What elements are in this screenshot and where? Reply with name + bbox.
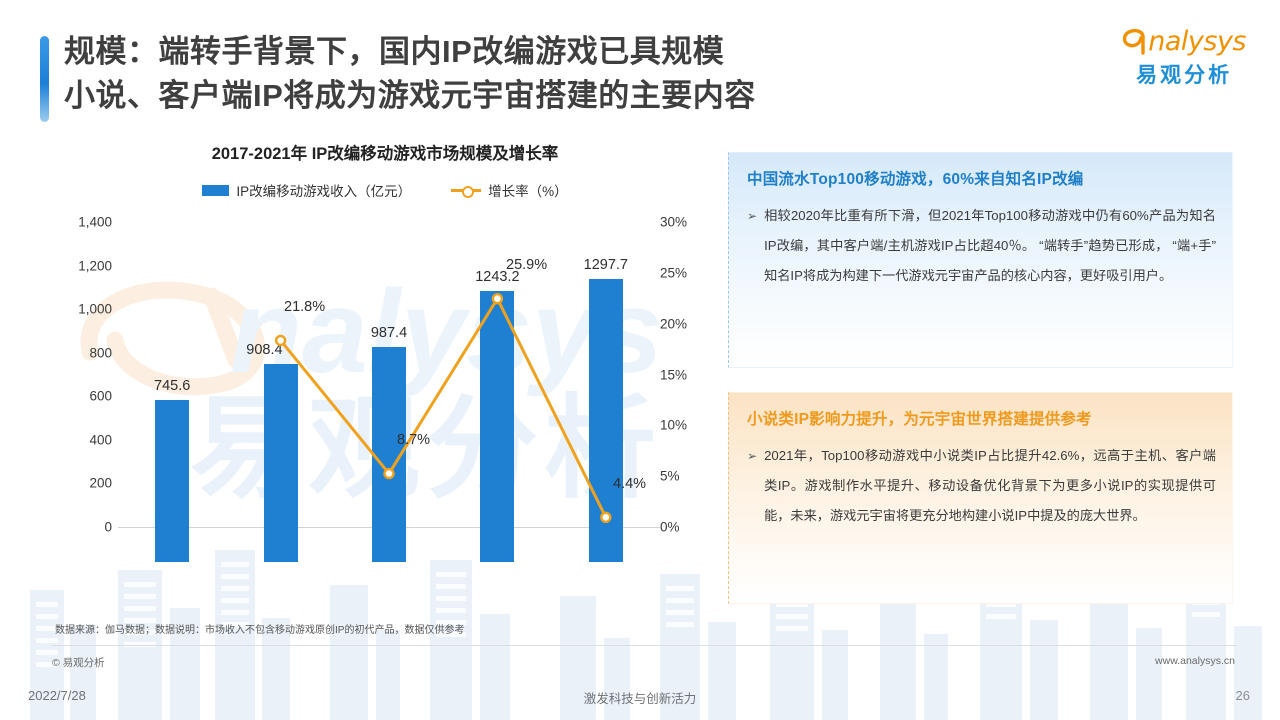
footer-slogan: 激发科技与创新活力 [0, 688, 1280, 707]
chart-container: 2017-2021年 IP改编移动游戏市场规模及增长率 IP改编移动游戏收入（亿… [60, 140, 710, 600]
insight-panel-ip-adaptation: 中国流水Top100移动游戏，60%来自知名IP改编 ➢ 相较2020年比重有所… [728, 152, 1233, 368]
y-left-tick-1000: 1,000 [78, 302, 112, 317]
line-point-2021[interactable] [601, 513, 610, 522]
analysys-logo: nalysys 易观分析 [1122, 26, 1246, 89]
y-right-tick-5: 5% [660, 469, 680, 484]
page-number: 26 [1236, 688, 1250, 703]
y-left-tick-1200: 1,200 [78, 258, 112, 273]
line-point-2020[interactable] [493, 294, 502, 303]
line-value-2019: 8.7% [397, 432, 430, 448]
line-point-2019[interactable] [385, 469, 394, 478]
data-source-footnote: 数据来源：伽马数据；数据说明：市场收入不包含移动游戏原创IP的初代产品，数据仅供… [55, 621, 464, 636]
footer-divider [52, 645, 1237, 646]
panel-heading-orange: 小说类IP影响力提升，为元宇宙世界搭建提供参考 [747, 407, 1216, 429]
line-value-2020: 25.9% [506, 257, 547, 273]
y-right-tick-0: 0% [660, 520, 680, 535]
page-title: 规模：端转手背景下，国内IP改编游戏已具规模 小说、客户端IP将成为游戏元宇宙搭… [40, 30, 1040, 118]
y-left-tick-0: 0 [104, 520, 112, 535]
y-left-tick-1400: 1,400 [78, 215, 112, 230]
panel-bullet-blue: ➢ 相较2020年比重有所下滑，但2021年Top100移动游戏中仍有60%产品… [747, 201, 1216, 291]
chart-title: 2017-2021年 IP改编移动游戏市场规模及增长率 [60, 140, 710, 164]
panel-body-blue: 相较2020年比重有所下滑，但2021年Top100移动游戏中仍有60%产品为知… [764, 201, 1216, 291]
logo-wordmark: nalysys [1148, 26, 1246, 57]
title-accent-bar [40, 36, 49, 122]
y-right-tick-20: 20% [660, 316, 687, 331]
title-line-1: 规模：端转手背景下，国内IP改编游戏已具规模 [64, 30, 1040, 74]
line-value-2018: 21.8% [284, 299, 325, 315]
y-right-tick-10: 10% [660, 418, 687, 433]
y-left-tick-800: 800 [89, 345, 112, 360]
panel-bullet-orange: ➢ 2021年，Top100移动游戏中小说类IP占比提升42.6%，远高于主机、… [747, 441, 1216, 531]
y-left-tick-600: 600 [89, 389, 112, 404]
bullet-arrow-icon: ➢ [747, 201, 757, 231]
chart-legend: IP改编移动游戏收入（亿元） 增长率（%） [60, 180, 710, 200]
legend-item-bar: IP改编移动游戏收入（亿元） [202, 180, 411, 200]
y-right-tick-15: 15% [660, 367, 687, 382]
copyright-text: © 易观分析 [52, 655, 105, 670]
line-value-2021: 4.4% [613, 476, 646, 492]
y-right-tick-25: 25% [660, 265, 687, 280]
legend-bar-swatch [202, 185, 229, 196]
growth-rate-line [118, 257, 660, 562]
insight-panel-novel-ip: 小说类IP影响力提升，为元宇宙世界搭建提供参考 ➢ 2021年，Top100移动… [728, 392, 1233, 604]
logo-swirl-icon [1122, 28, 1148, 56]
website-url: www.analysys.cn [1155, 655, 1235, 667]
y-left-tick-200: 200 [89, 476, 112, 491]
title-line-2: 小说、客户端IP将成为游戏元宇宙搭建的主要内容 [64, 74, 1040, 118]
legend-item-line: 增长率（%） [451, 180, 568, 200]
panel-body-orange: 2021年，Top100移动游戏中小说类IP占比提升42.6%，远高于主机、客户… [764, 441, 1216, 531]
bullet-arrow-icon: ➢ [747, 441, 757, 471]
y-right-tick-30: 30% [660, 215, 687, 230]
plot-area: nalysys 易观分析 1,400 1,200 1,000 800 600 4… [60, 222, 710, 562]
y-left-tick-400: 400 [89, 432, 112, 447]
logo-chinese-name: 易观分析 [1122, 59, 1246, 89]
legend-line-swatch [451, 185, 481, 196]
legend-line-label: 增长率（%） [488, 180, 568, 200]
panel-heading-blue: 中国流水Top100移动游戏，60%来自知名IP改编 [747, 167, 1216, 189]
legend-bar-label: IP改编移动游戏收入（亿元） [236, 180, 411, 200]
line-point-2018[interactable] [276, 336, 285, 345]
